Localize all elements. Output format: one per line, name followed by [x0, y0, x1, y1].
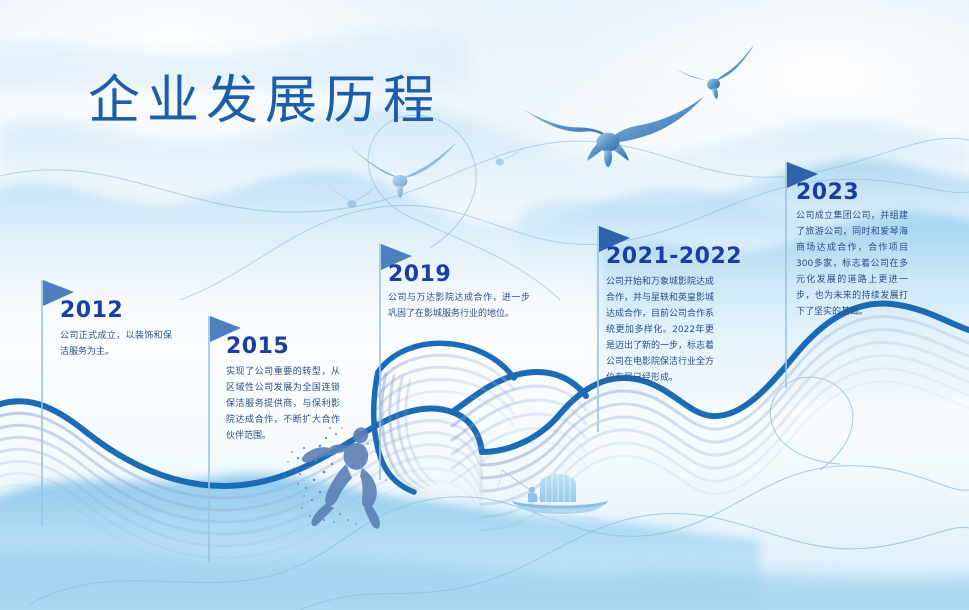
milestone-year: 2012 [60, 298, 123, 323]
milestone-year: 2015 [226, 334, 289, 359]
timeline-poster: 企业发展历程 2012 公司正式成立，以装饰和保洁服务为主。 2015 实现了公… [0, 0, 969, 610]
milestone-year: 2023 [796, 180, 859, 205]
milestone-text: 公司成立集团公司，并组建了旅游公司，同时和爱琴海商场达成合作，合作项目300多家… [796, 208, 908, 320]
milestone-text: 公司与万达影院达成合作，进一步巩固了在影城服务行业的地位。 [388, 290, 530, 322]
page-title: 企业发展历程 [88, 58, 442, 133]
milestone-text: 公司正式成立，以装饰和保洁服务为主。 [60, 328, 172, 360]
milestone-text: 实现了公司重要的转型，从区域性公司发展为全国连锁保洁服务提供商，与保利影院达成合… [226, 364, 340, 444]
milestone-year: 2021-2022 [606, 244, 742, 269]
milestone-text: 公司开始和万象城影院达成合作，并与星轶和英皇影城达成合作，目前公司合作系统更加多… [606, 274, 714, 386]
milestone-year: 2019 [388, 262, 451, 287]
